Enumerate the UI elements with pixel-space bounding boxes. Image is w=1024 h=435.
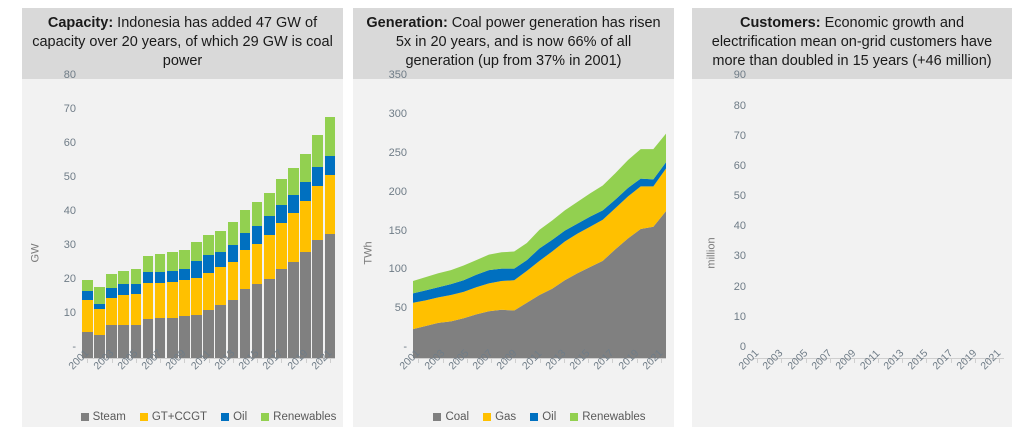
x-tick: 2021 xyxy=(994,359,1005,397)
x-tick: 2019 xyxy=(631,359,642,397)
y-tick-label: 0 xyxy=(740,341,746,353)
bar-segment xyxy=(167,271,178,282)
x-tick: 2003 xyxy=(106,359,117,397)
bar-segment xyxy=(131,284,142,294)
legend-item[interactable]: GT+CCGT xyxy=(140,411,207,423)
bar-segment xyxy=(94,309,105,335)
bar-segment xyxy=(300,201,311,252)
legend-label: Oil xyxy=(233,411,247,423)
stacked-bar[interactable] xyxy=(155,87,166,359)
bar-segment xyxy=(131,294,142,325)
stacked-bar[interactable] xyxy=(215,87,226,359)
customers-bar-group xyxy=(752,87,1004,359)
y-tick-label: 40 xyxy=(64,205,76,217)
y-tick-label: - xyxy=(403,341,407,353)
y-tick-label: 200 xyxy=(389,186,407,198)
stacked-bar[interactable] xyxy=(252,87,263,359)
y-tick-label: 30 xyxy=(734,250,746,262)
stacked-bar[interactable] xyxy=(325,87,336,359)
x-tick: 2009 xyxy=(510,359,521,397)
x-tick: 2005 xyxy=(800,359,811,397)
customers-y-axis: 0102030405060708090 xyxy=(714,87,750,427)
stacked-bar[interactable] xyxy=(179,87,190,359)
capacity-bar-group xyxy=(82,87,335,359)
bar-segment xyxy=(312,186,323,240)
x-tick: 2011 xyxy=(203,359,214,397)
y-tick-label: 70 xyxy=(64,103,76,115)
bar-segment xyxy=(252,226,263,244)
legend-label: Renewables xyxy=(273,411,336,423)
bar-segment xyxy=(215,231,226,252)
bar-segment xyxy=(82,280,93,291)
bar-segment xyxy=(264,235,275,279)
capacity-x-axis: 2001200320052007200920112013201520172019… xyxy=(82,359,335,397)
bar-segment xyxy=(288,262,299,359)
stacked-bar[interactable] xyxy=(94,87,105,359)
bar-segment xyxy=(106,274,117,288)
stacked-bar[interactable] xyxy=(191,87,202,359)
stacked-bar[interactable] xyxy=(312,87,323,359)
generation-y-axis: -50100150200250300350 xyxy=(375,87,411,427)
y-tick-label: 10 xyxy=(734,311,746,323)
generation-area-group xyxy=(413,87,666,359)
legend-item[interactable]: Gas xyxy=(483,411,516,423)
bar-segment xyxy=(179,280,190,317)
stacked-bar[interactable] xyxy=(264,87,275,359)
bar-segment xyxy=(118,271,129,285)
bar-segment xyxy=(300,252,311,359)
stacked-bar[interactable] xyxy=(82,87,93,359)
bar-segment xyxy=(312,240,323,359)
legend-swatch-icon xyxy=(221,413,229,421)
legend-swatch-icon xyxy=(81,413,89,421)
bar-segment xyxy=(106,298,117,325)
x-tick: 2009 xyxy=(849,359,860,397)
bar-segment xyxy=(288,213,299,262)
y-tick-label: 90 xyxy=(734,69,746,81)
bar-segment xyxy=(143,283,154,319)
y-tick-label: 250 xyxy=(389,147,407,159)
bar-segment xyxy=(118,284,129,294)
x-tick: 2001 xyxy=(413,359,424,397)
bar-segment xyxy=(179,269,190,280)
y-tick-label: 40 xyxy=(734,220,746,232)
bar-segment xyxy=(288,195,299,213)
legend-item[interactable]: Oil xyxy=(221,411,247,423)
bar-segment xyxy=(228,245,239,262)
y-tick-label: 20 xyxy=(734,281,746,293)
x-tick: 2017 xyxy=(945,359,956,397)
legend-swatch-icon xyxy=(530,413,538,421)
panel-capacity-plot: GW -1020304050607080 2001200320052007200… xyxy=(22,79,343,427)
bar-segment xyxy=(240,250,251,289)
bar-segment xyxy=(167,282,178,318)
bar-segment xyxy=(325,234,336,359)
stacked-bar[interactable] xyxy=(167,87,178,359)
generation-legend: CoalGasOilRenewables xyxy=(413,411,666,423)
legend-label: GT+CCGT xyxy=(152,411,207,423)
x-tick: 2015 xyxy=(921,359,932,397)
bar-segment xyxy=(300,182,311,201)
capacity-legend: SteamGT+CCGTOilRenewables xyxy=(82,411,335,423)
bar-segment xyxy=(228,262,239,300)
bar-segment xyxy=(264,193,275,217)
bar-segment xyxy=(94,287,105,304)
y-tick-label: 10 xyxy=(64,307,76,319)
bar-segment xyxy=(240,210,251,233)
legend-swatch-icon xyxy=(570,413,578,421)
y-tick-label: 150 xyxy=(389,225,407,237)
x-tick: 2017 xyxy=(276,359,287,397)
bar-segment xyxy=(325,175,336,234)
generation-x-axis: 2001200320052007200920112013201520172019… xyxy=(413,359,666,397)
y-tick-label: 50 xyxy=(734,190,746,202)
bar-segment xyxy=(143,272,154,283)
panel-capacity: Capacity: Indonesia has added 47 GW of c… xyxy=(22,8,343,427)
y-tick-label: 300 xyxy=(389,108,407,120)
capacity-y-axis: -1020304050607080 xyxy=(44,87,80,427)
bar-segment xyxy=(118,295,129,326)
bar-segment xyxy=(143,256,154,272)
x-tick: 2009 xyxy=(179,359,190,397)
bar-segment xyxy=(276,179,287,204)
bar-segment xyxy=(215,252,226,268)
y-tick-label: 60 xyxy=(734,160,746,172)
bar-segment xyxy=(155,272,166,283)
bar-segment xyxy=(240,289,251,359)
y-tick-label: 50 xyxy=(64,171,76,183)
bar-segment xyxy=(240,233,251,250)
legend-item[interactable]: Oil xyxy=(530,411,556,423)
bar-segment xyxy=(325,156,336,175)
y-tick-label: 70 xyxy=(734,130,746,142)
bar-segment xyxy=(82,300,93,332)
legend-swatch-icon xyxy=(483,413,491,421)
panel-customers-plot: million 0102030405060708090 200120032005… xyxy=(692,79,1012,427)
bar-segment xyxy=(191,242,202,262)
bar-segment xyxy=(106,288,117,298)
bar-segment xyxy=(203,255,214,273)
x-tick: 2001 xyxy=(82,359,93,397)
three-panel-chart-board: Capacity: Indonesia has added 47 GW of c… xyxy=(0,0,1024,435)
bar-segment xyxy=(82,291,93,300)
bar-segment xyxy=(155,283,166,319)
x-tick: 2021 xyxy=(656,359,667,397)
bar-segment xyxy=(288,168,299,195)
y-tick-label: 30 xyxy=(64,239,76,251)
y-tick-label: 80 xyxy=(64,69,76,81)
x-tick-mark xyxy=(781,359,782,363)
bar-segment xyxy=(191,278,202,315)
y-tick-label: 350 xyxy=(389,69,407,81)
stacked-bar[interactable] xyxy=(143,87,154,359)
stacked-bar[interactable] xyxy=(300,87,311,359)
legend-label: Coal xyxy=(445,411,469,423)
x-tick: 2011 xyxy=(534,359,545,397)
panel-generation: Generation: Coal power generation has ri… xyxy=(353,8,674,427)
bar-segment xyxy=(191,261,202,277)
bar-segment xyxy=(203,273,214,310)
y-tick-label: 20 xyxy=(64,273,76,285)
bar-segment xyxy=(300,154,311,183)
panel-customers: Customers: Economic growth and electrifi… xyxy=(692,8,1012,427)
legend-label: Renewables xyxy=(582,411,645,423)
bar-segment xyxy=(312,135,323,167)
legend-item[interactable]: Renewables xyxy=(570,411,645,423)
bar-segment xyxy=(252,202,263,226)
legend-item[interactable]: Renewables xyxy=(261,411,336,423)
bar-segment xyxy=(252,244,263,285)
x-tick: 2003 xyxy=(776,359,787,397)
x-tick: 2019 xyxy=(300,359,311,397)
legend-swatch-icon xyxy=(140,413,148,421)
legend-item[interactable]: Coal xyxy=(433,411,469,423)
y-tick-label: 50 xyxy=(395,302,407,314)
y-tick-label: 60 xyxy=(64,137,76,149)
stacked-bar[interactable] xyxy=(203,87,214,359)
bar-segment xyxy=(325,117,336,156)
legend-label: Oil xyxy=(542,411,556,423)
stacked-bar[interactable] xyxy=(228,87,239,359)
legend-label: Steam xyxy=(93,411,126,423)
x-tick: 2017 xyxy=(607,359,618,397)
bar-segment xyxy=(131,269,142,283)
bar-segment xyxy=(203,235,214,255)
x-tick: 2021 xyxy=(325,359,336,397)
bar-segment xyxy=(312,167,323,186)
bar-segment xyxy=(155,254,166,272)
bar-segment xyxy=(167,252,178,271)
customers-x-axis: 2001200320052007200920112013201520172019… xyxy=(752,359,1004,397)
legend-swatch-icon xyxy=(433,413,441,421)
bar-segment xyxy=(276,223,287,269)
stacked-bar[interactable] xyxy=(276,87,287,359)
bar-segment xyxy=(276,269,287,359)
capacity-y-axis-label: GW xyxy=(29,244,41,263)
stacked-bar[interactable] xyxy=(131,87,142,359)
bar-segment xyxy=(276,205,287,224)
legend-swatch-icon xyxy=(261,413,269,421)
bar-segment xyxy=(264,216,275,235)
panel-generation-plot: TWh -50100150200250300350 20012003200520… xyxy=(353,79,674,427)
stacked-bar[interactable] xyxy=(106,87,117,359)
y-tick-label: 100 xyxy=(389,263,407,275)
bar-segment xyxy=(264,279,275,359)
stacked-bar[interactable] xyxy=(240,87,251,359)
bar-segment xyxy=(228,222,239,245)
bar-segment xyxy=(179,250,190,269)
bar-segment xyxy=(215,267,226,304)
panel-generation-header-bold: Generation: xyxy=(366,15,447,31)
stacked-bar[interactable] xyxy=(288,87,299,359)
generation-y-axis-label: TWh xyxy=(363,242,375,265)
panel-capacity-header-bold: Capacity: xyxy=(48,15,113,31)
stacked-bar[interactable] xyxy=(118,87,129,359)
legend-item[interactable]: Steam xyxy=(81,411,126,423)
x-tick: 2003 xyxy=(437,359,448,397)
panel-customers-header-bold: Customers: xyxy=(740,15,821,31)
y-tick-label: 80 xyxy=(734,100,746,112)
y-tick-label: - xyxy=(72,341,76,353)
legend-label: Gas xyxy=(495,411,516,423)
